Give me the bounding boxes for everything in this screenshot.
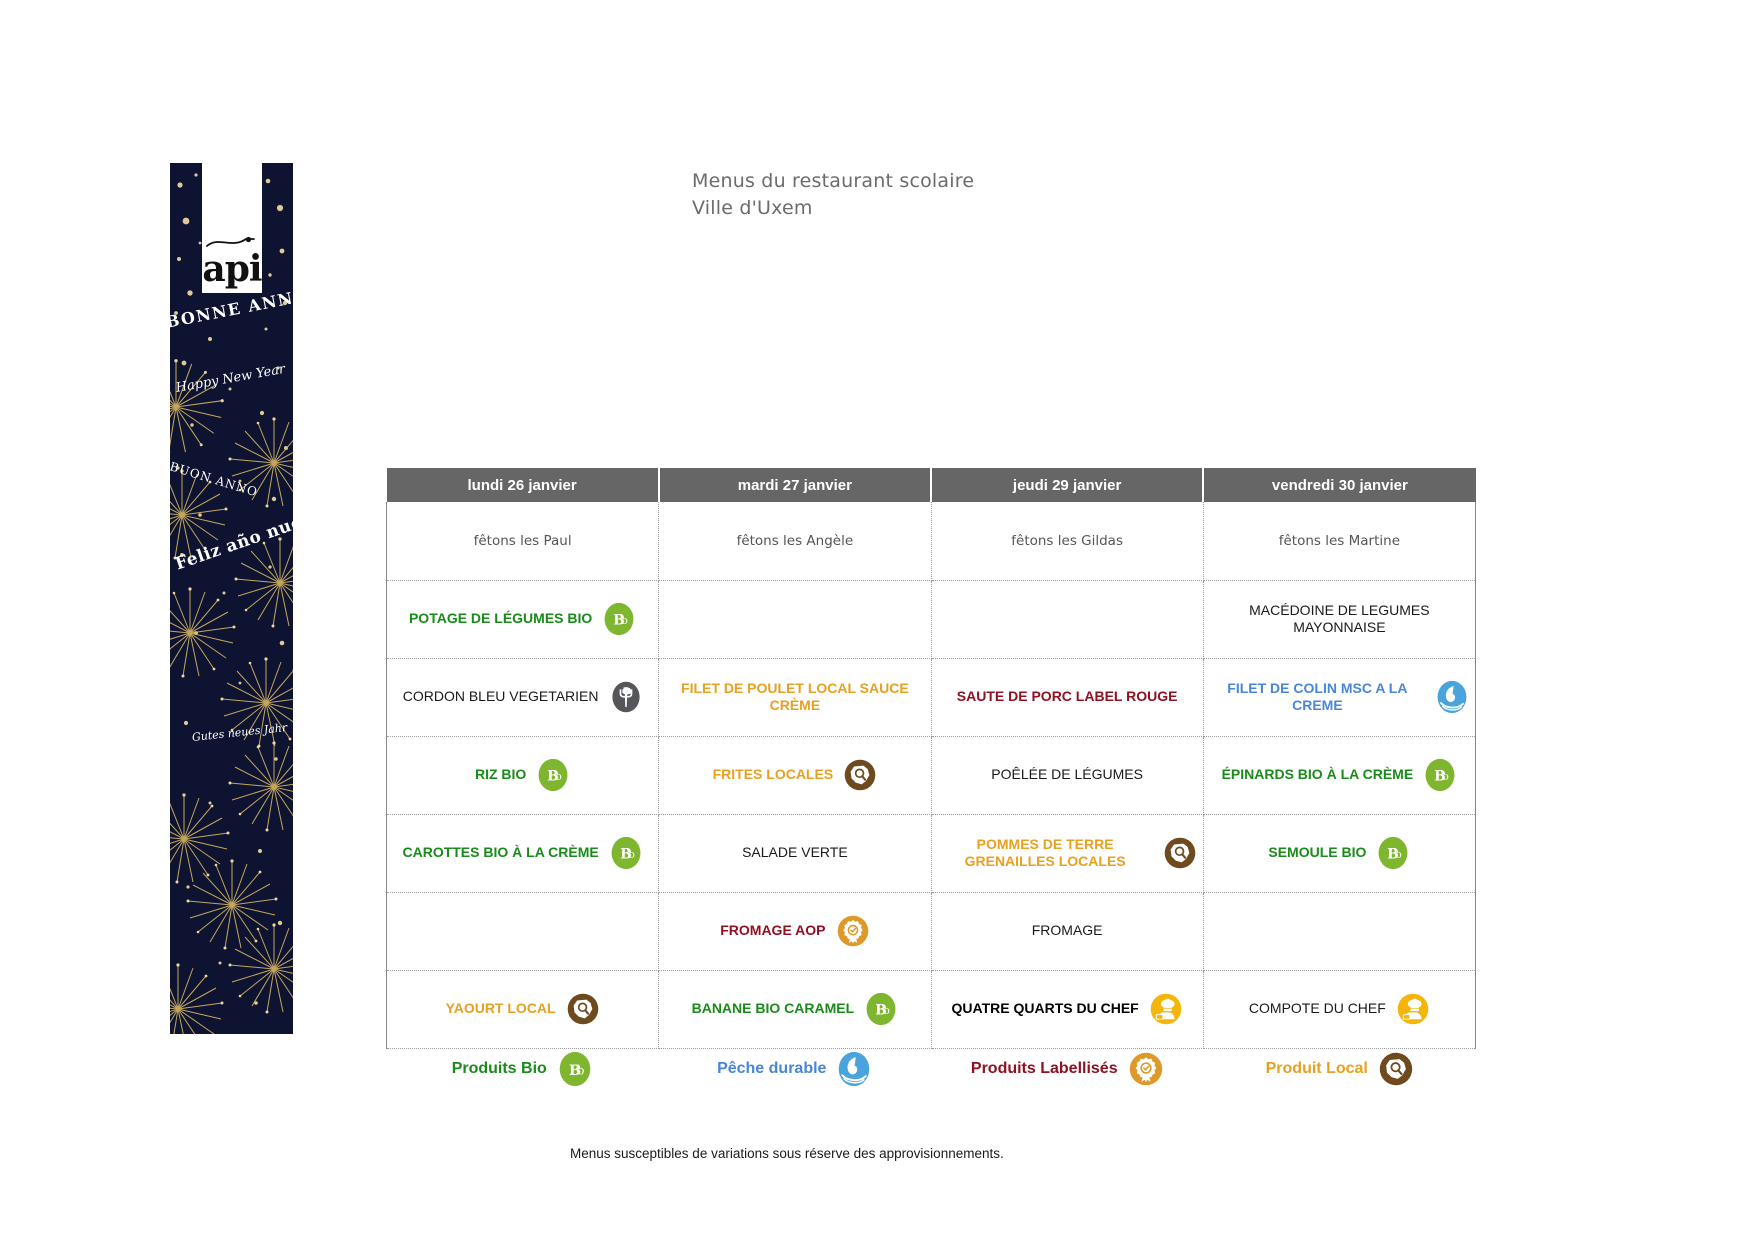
- dish-name: POTAGE DE LÉGUMES BIO: [409, 610, 592, 627]
- dish-name: POÊLÉE DE LÉGUMES: [991, 766, 1143, 783]
- dish-name: FRITES LOCALES: [713, 766, 834, 783]
- menu-cell-plat-0: CORDON BLEU VEGETARIEN: [387, 658, 659, 736]
- day-header-mardi: mardi 27 janvier: [659, 468, 931, 502]
- dish-cell: POMMES DE TERRE GRENAILLES LOCALES: [938, 830, 1197, 876]
- menu-cell-accompagnement-1-1: FRITES LOCALES: [659, 736, 931, 814]
- dish-cell: COMPOTE DU CHEF: [1210, 986, 1469, 1032]
- vegetarian-icon: [609, 680, 643, 714]
- sustainable-fishing-icon: [836, 1051, 872, 1087]
- dish-name: FROMAGE: [1032, 922, 1103, 939]
- menu-row-plat: CORDON BLEU VEGETARIENFILET DE POULET LO…: [387, 658, 1476, 736]
- menu-cell-accompagnement-1-3: ÉPINARDS BIO À LA CRÈMEBo: [1203, 736, 1475, 814]
- dish-name: BANANE BIO CARAMEL: [692, 1000, 855, 1017]
- menu-cell-plat-1: FILET DE POULET LOCAL SAUCE CRÈME: [659, 658, 931, 736]
- saint-cell-0: fêtons les Paul: [387, 502, 659, 580]
- menu-cell-accompagnement-1-2: POÊLÉE DE LÉGUMES: [931, 736, 1203, 814]
- peche-badge: [1435, 680, 1469, 714]
- dish-name: FILET DE COLIN MSC A LA CREME: [1210, 680, 1425, 714]
- peche-legend-badge: [836, 1051, 872, 1087]
- menu-page: api BONNE ANNEE Happy New Year BUON ANNO…: [0, 0, 1756, 1242]
- menu-cell-plat-3: FILET DE COLIN MSC A LA CREME: [1203, 658, 1475, 736]
- menu-row-accompagnement-2: CAROTTES BIO À LA CRÈMEBoSALADE VERTEPOM…: [387, 814, 1476, 892]
- day-header-jeudi: jeudi 29 janvier: [931, 468, 1203, 502]
- bio-icon: Bo: [536, 758, 570, 792]
- legend-label: Produits Bio: [452, 1060, 547, 1078]
- legend-item-label: Produits Labellisés: [931, 1051, 1204, 1087]
- dish-name: SALADE VERTE: [742, 844, 848, 861]
- saint-text: fêtons les Martine: [1210, 533, 1469, 549]
- dish-name: COMPOTE DU CHEF: [1249, 1000, 1386, 1017]
- menu-cell-fromage-2: FROMAGE: [931, 892, 1203, 970]
- dish-cell: FILET DE POULET LOCAL SAUCE CRÈME: [665, 674, 924, 720]
- legend-label: Produit Local: [1266, 1060, 1368, 1078]
- sustainable-fishing-icon: [1435, 680, 1469, 714]
- local-product-icon: [566, 992, 600, 1026]
- local-badge: [1163, 836, 1197, 870]
- local-badge: [566, 992, 600, 1026]
- bio-badge: Bo: [602, 602, 636, 636]
- menu-cell-entree-3: MACÉDOINE DE LEGUMES MAYONNAISE: [1203, 580, 1475, 658]
- dish-cell: QUATRE QUARTS DU CHEF: [938, 986, 1197, 1032]
- bio-badge: Bo: [1423, 758, 1457, 792]
- menu-cell-fromage-3: [1203, 892, 1475, 970]
- label-badge: [836, 914, 870, 948]
- local-badge: [843, 758, 877, 792]
- dish-cell: FRITES LOCALES: [665, 752, 924, 798]
- local-product-icon: [843, 758, 877, 792]
- dish-cell: ÉPINARDS BIO À LA CRÈMEBo: [1210, 752, 1469, 798]
- saint-text: fêtons les Gildas: [938, 533, 1197, 549]
- chef-badge: [1396, 992, 1430, 1026]
- dish-name: FILET DE POULET LOCAL SAUCE CRÈME: [665, 680, 924, 714]
- menu-table: lundi 26 janvier mardi 27 janvier jeudi …: [386, 468, 1476, 1049]
- saint-cell-2: fêtons les Gildas: [931, 502, 1203, 580]
- page-title-line2: Ville d'Uxem: [692, 195, 974, 222]
- bio-badge: Bo: [609, 836, 643, 870]
- bio-badge: Bo: [1376, 836, 1410, 870]
- bio-icon: Bo: [864, 992, 898, 1026]
- dish-cell: CAROTTES BIO À LA CRÈMEBo: [393, 830, 652, 876]
- dish-cell: RIZ BIOBo: [393, 752, 652, 798]
- new-year-banner: api BONNE ANNEE Happy New Year BUON ANNO…: [170, 163, 293, 1034]
- bio-icon: Bo: [557, 1051, 593, 1087]
- menu-cell-entree-0: POTAGE DE LÉGUMES BIOBo: [387, 580, 659, 658]
- menu-row-accompagnement-1: RIZ BIOBoFRITES LOCALESPOÊLÉE DE LÉGUMES…: [387, 736, 1476, 814]
- label-legend-badge: [1128, 1051, 1164, 1087]
- bio-icon: Bo: [609, 836, 643, 870]
- fireworks-artwork: [170, 163, 293, 1034]
- saint-text: fêtons les Angèle: [665, 533, 924, 549]
- local-product-icon: [1163, 836, 1197, 870]
- dish-name: SAUTE DE PORC LABEL ROUGE: [957, 688, 1178, 705]
- legend-label: Produits Labellisés: [971, 1060, 1118, 1078]
- footer-note: Menus susceptibles de variations sous ré…: [570, 1146, 1004, 1161]
- local-legend-badge: [1378, 1051, 1414, 1087]
- menu-cell-plat-2: SAUTE DE PORC LABEL ROUGE: [931, 658, 1203, 736]
- api-logo: api: [202, 163, 262, 293]
- saint-text: fêtons les Paul: [393, 533, 652, 549]
- dish-cell: BANANE BIO CARAMELBo: [665, 986, 924, 1032]
- dish-cell: SALADE VERTE: [665, 830, 924, 876]
- dish-cell: POTAGE DE LÉGUMES BIOBo: [393, 596, 652, 642]
- label-quality-icon: [1128, 1051, 1164, 1087]
- table-header-row: lundi 26 janvier mardi 27 janvier jeudi …: [387, 468, 1476, 502]
- dish-cell: SAUTE DE PORC LABEL ROUGE: [938, 674, 1197, 720]
- menu-cell-dessert-2: QUATRE QUARTS DU CHEF: [931, 970, 1203, 1048]
- dish-cell: CORDON BLEU VEGETARIEN: [393, 674, 652, 720]
- local-product-icon: [1378, 1051, 1414, 1087]
- saints-row: fêtons les Paulfêtons les Angèlefêtons l…: [387, 502, 1476, 580]
- menu-cell-accompagnement-2-1: SALADE VERTE: [659, 814, 931, 892]
- menu-cell-entree-1: [659, 580, 931, 658]
- label-quality-icon: [836, 914, 870, 948]
- dish-cell: YAOURT LOCAL: [393, 986, 652, 1032]
- bio-badge: Bo: [536, 758, 570, 792]
- chef-badge: [1149, 992, 1183, 1026]
- bio-legend-badge: Bo: [557, 1051, 593, 1087]
- dish-name: RIZ BIO: [475, 766, 526, 783]
- dish-name: MACÉDOINE DE LEGUMES MAYONNAISE: [1210, 602, 1469, 636]
- dish-cell: FILET DE COLIN MSC A LA CREME: [1210, 674, 1469, 720]
- menu-cell-accompagnement-1-0: RIZ BIOBo: [387, 736, 659, 814]
- dish-cell: FROMAGE AOP: [665, 908, 924, 954]
- saint-cell-3: fêtons les Martine: [1203, 502, 1475, 580]
- dish-name: FROMAGE AOP: [720, 922, 825, 939]
- legend: Produits BioBoPêche durableProduits Labe…: [386, 1046, 1476, 1092]
- menu-cell-accompagnement-2-3: SEMOULE BIOBo: [1203, 814, 1475, 892]
- menu-row-entree: POTAGE DE LÉGUMES BIOBoMACÉDOINE DE LEGU…: [387, 580, 1476, 658]
- dish-name: CORDON BLEU VEGETARIEN: [403, 688, 599, 705]
- menu-cell-dessert-0: YAOURT LOCAL: [387, 970, 659, 1048]
- dish-cell: FROMAGE: [938, 908, 1197, 954]
- bio-icon: Bo: [602, 602, 636, 636]
- dish-cell: MACÉDOINE DE LEGUMES MAYONNAISE: [1210, 596, 1469, 642]
- legend-item-local: Produit Local: [1204, 1051, 1477, 1087]
- chef-made-icon: [1149, 992, 1183, 1026]
- day-header-lundi: lundi 26 janvier: [387, 468, 659, 502]
- day-header-vendredi: vendredi 30 janvier: [1203, 468, 1475, 502]
- menu-cell-entree-2: [931, 580, 1203, 658]
- menu-row-fromage: FROMAGE AOPFROMAGE: [387, 892, 1476, 970]
- menu-cell-dessert-3: COMPOTE DU CHEF: [1203, 970, 1475, 1048]
- bio-badge: Bo: [864, 992, 898, 1026]
- bio-icon: Bo: [1423, 758, 1457, 792]
- legend-label: Pêche durable: [717, 1060, 826, 1078]
- api-logo-text: api: [202, 251, 262, 287]
- menu-cell-accompagnement-2-0: CAROTTES BIO À LA CRÈMEBo: [387, 814, 659, 892]
- dish-name: POMMES DE TERRE GRENAILLES LOCALES: [938, 836, 1153, 870]
- dish-name: CAROTTES BIO À LA CRÈME: [402, 844, 598, 861]
- menu-cell-dessert-1: BANANE BIO CARAMELBo: [659, 970, 931, 1048]
- menu-cell-accompagnement-2-2: POMMES DE TERRE GRENAILLES LOCALES: [931, 814, 1203, 892]
- page-title: Menus du restaurant scolaire Ville d'Uxe…: [692, 168, 974, 222]
- dish-cell: SEMOULE BIOBo: [1210, 830, 1469, 876]
- dish-name: SEMOULE BIO: [1268, 844, 1366, 861]
- legend-item-peche: Pêche durable: [659, 1051, 932, 1087]
- menu-cell-fromage-1: FROMAGE AOP: [659, 892, 931, 970]
- menu-cell-fromage-0: [387, 892, 659, 970]
- legend-item-bio: Produits BioBo: [386, 1051, 659, 1087]
- dish-name: YAOURT LOCAL: [446, 1000, 556, 1017]
- menu-table-body: fêtons les Paulfêtons les Angèlefêtons l…: [387, 502, 1476, 1048]
- page-title-line1: Menus du restaurant scolaire: [692, 168, 974, 195]
- saint-cell-1: fêtons les Angèle: [659, 502, 931, 580]
- chef-made-icon: [1396, 992, 1430, 1026]
- dish-cell: POÊLÉE DE LÉGUMES: [938, 752, 1197, 798]
- dish-name: ÉPINARDS BIO À LA CRÈME: [1222, 766, 1414, 783]
- dish-name: QUATRE QUARTS DU CHEF: [952, 1000, 1139, 1017]
- vegetarien-badge: [609, 680, 643, 714]
- bio-icon: Bo: [1376, 836, 1410, 870]
- menu-row-dessert: YAOURT LOCALBANANE BIO CARAMELBoQUATRE Q…: [387, 970, 1476, 1048]
